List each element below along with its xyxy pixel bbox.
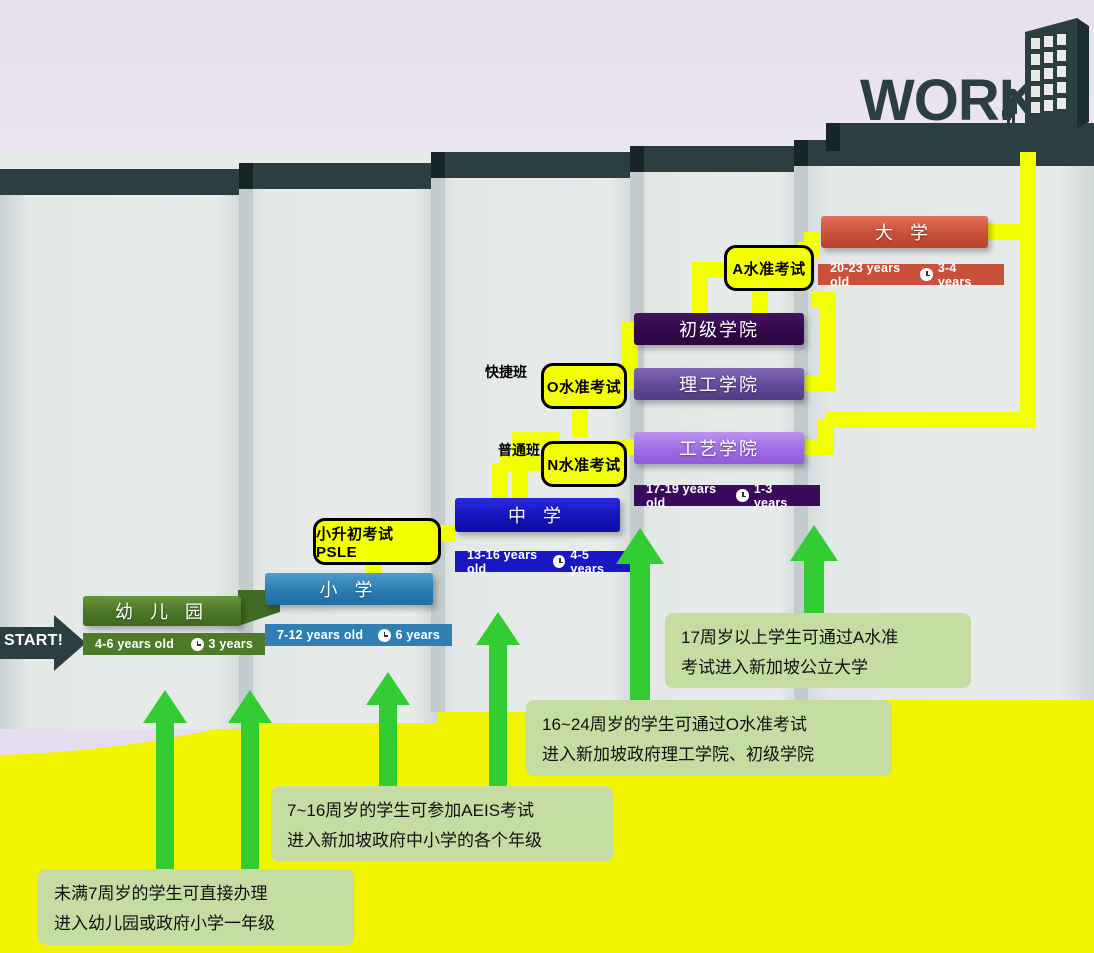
stage-primary[interactable]: 小 学: [265, 573, 433, 605]
agebox-kindergarten-age: 4-6 years old: [95, 637, 174, 651]
agebox-university-duration: 3-4 years: [938, 261, 992, 289]
agebox-university: 20-23 years old 3-4 years: [818, 264, 1004, 285]
callout-a-level-route-line1: 17周岁以上学生可通过A水准: [681, 623, 955, 653]
agebox-secondary-age: 13-16 years old: [467, 548, 553, 576]
exam-n-level[interactable]: N水准考试: [541, 441, 627, 487]
agebox-university-age: 20-23 years old: [830, 261, 920, 289]
agebox-post-secondary-duration: 1-3 years: [754, 482, 808, 510]
exam-psle-label: 小升初考试 PSLE: [316, 523, 438, 561]
clock-icon: [736, 489, 749, 502]
track-label-express: 快捷班: [485, 362, 527, 382]
callout-under-7-line1: 未满7周岁的学生可直接办理: [54, 879, 338, 909]
stage-university-label: 大 学: [875, 219, 934, 245]
clock-icon: [378, 629, 391, 642]
callout-o-level-route-line1: 16~24周岁的学生可通过O水准考试: [542, 710, 876, 740]
stage-secondary[interactable]: 中 学: [455, 498, 620, 532]
agebox-kindergarten: 4-6 years old 3 years: [83, 633, 265, 655]
stage-ite[interactable]: 工艺学院: [634, 432, 804, 464]
stage-kindergarten[interactable]: 幼 儿 园: [83, 596, 241, 626]
agebox-primary-duration: 6 years: [396, 628, 441, 642]
green-arrow-under7-b: [228, 690, 272, 880]
infographic-canvas: www.yy-sg.com www.yy-sg.com www.yy-sg.co…: [0, 0, 1094, 953]
clock-icon: [920, 268, 933, 281]
exam-o-level-label: O水准考试: [547, 376, 621, 397]
agebox-kindergarten-duration: 3 years: [209, 637, 254, 651]
agebox-primary-age: 7-12 years old: [277, 628, 363, 642]
clock-icon: [553, 555, 565, 568]
stage-kindergarten-label: 幼 儿 园: [115, 598, 209, 624]
callout-under-7: 未满7周岁的学生可直接办理 进入幼儿园或政府小学一年级: [38, 869, 354, 945]
agebox-post-secondary-age: 17-19 years old: [646, 482, 736, 510]
agebox-primary: 7-12 years old 6 years: [265, 624, 452, 646]
stage-secondary-label: 中 学: [508, 502, 567, 528]
track-label-normal: 普通班: [498, 440, 540, 460]
callout-o-level-route: 16~24周岁的学生可通过O水准考试 进入新加坡政府理工学院、初级学院: [526, 700, 892, 776]
exam-a-level[interactable]: A水准考试: [724, 245, 814, 291]
exam-a-level-label: A水准考试: [732, 258, 805, 279]
exam-n-level-label: N水准考试: [547, 454, 620, 475]
agebox-secondary-duration: 4-5 years: [570, 548, 622, 576]
callout-aeis: 7~16周岁的学生可参加AEIS考试 进入新加坡政府中小学的各个年级: [271, 786, 613, 862]
agebox-secondary: 13-16 years old 4-5 years: [455, 551, 634, 572]
green-arrow-o-level-route: [616, 528, 664, 700]
callout-aeis-line2: 进入新加坡政府中小学的各个年级: [287, 826, 597, 856]
clock-icon: [191, 638, 204, 651]
stage-junior-college-label: 初级学院: [679, 316, 759, 342]
stage-ite-label: 工艺学院: [679, 435, 759, 461]
callout-a-level-route: 17周岁以上学生可通过A水准 考试进入新加坡公立大学: [665, 613, 971, 688]
stage-primary-label: 小 学: [319, 576, 378, 602]
green-arrow-aeis-a: [366, 672, 410, 790]
stage-polytechnic-label: 理工学院: [679, 371, 759, 397]
stage-polytechnic[interactable]: 理工学院: [634, 368, 804, 400]
green-arrow-under7-a: [143, 690, 187, 880]
green-arrow-aeis-b: [476, 612, 520, 790]
exam-o-level[interactable]: O水准考试: [541, 363, 627, 409]
callout-under-7-line2: 进入幼儿园或政府小学一年级: [54, 909, 338, 939]
start-label: START!: [4, 632, 63, 650]
callout-a-level-route-line2: 考试进入新加坡公立大学: [681, 653, 955, 683]
callout-o-level-route-line2: 进入新加坡政府理工学院、初级学院: [542, 740, 876, 770]
agebox-post-secondary: 17-19 years old 1-3 years: [634, 485, 820, 506]
callout-aeis-line1: 7~16周岁的学生可参加AEIS考试: [287, 796, 597, 826]
stage-junior-college[interactable]: 初级学院: [634, 313, 804, 345]
exam-psle[interactable]: 小升初考试 PSLE: [313, 518, 441, 565]
green-arrow-a-level-route: [790, 525, 838, 615]
stage-university[interactable]: 大 学: [821, 216, 988, 248]
